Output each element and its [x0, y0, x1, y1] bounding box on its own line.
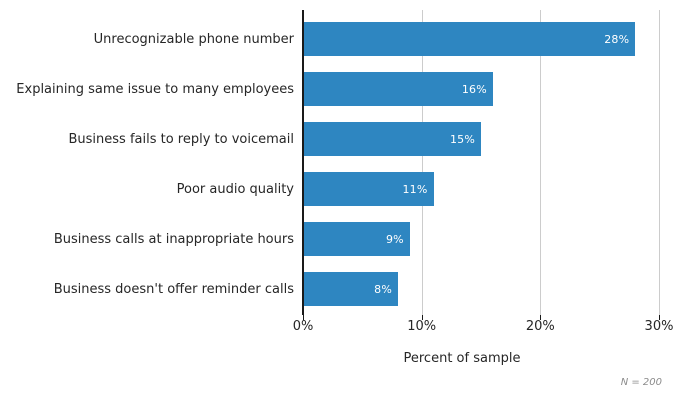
category-label-fails-to-reply-voicemail: Business fails to reply to voicemail	[0, 133, 294, 146]
bar-value-label: 28%	[303, 22, 629, 56]
y-axis-line	[302, 10, 304, 315]
bar-value-label: 9%	[303, 222, 404, 256]
category-label-unrecognizable-phone-number: Unrecognizable phone number	[0, 33, 294, 46]
bar-value-label: 16%	[303, 72, 487, 106]
x-tick-label-30: 30%	[645, 320, 674, 333]
category-label-no-reminder-calls: Business doesn't offer reminder calls	[0, 283, 294, 296]
plot-area: 28% 16% 15% 11% 9% 8%	[303, 10, 659, 315]
category-label-poor-audio-quality: Poor audio quality	[0, 183, 294, 196]
x-tick-label-10: 10%	[407, 320, 436, 333]
x-axis-title: Percent of sample	[0, 352, 675, 365]
bar-value-label: 11%	[303, 172, 428, 206]
category-label-explaining-same-issue: Explaining same issue to many employees	[0, 83, 294, 96]
bar-value-label: 8%	[303, 272, 392, 306]
x-tick-label-20: 20%	[526, 320, 555, 333]
bar-value-label: 15%	[303, 122, 475, 156]
category-label-calls-inappropriate-hours: Business calls at inappropriate hours	[0, 233, 294, 246]
gridline-30-percent	[659, 10, 660, 315]
x-tick-label-0: 0%	[293, 320, 314, 333]
sample-size-annotation: N = 200	[0, 378, 662, 388]
bar-chart-figure: 28% 16% 15% 11% 9% 8% Unrecognizable pho…	[0, 0, 675, 410]
